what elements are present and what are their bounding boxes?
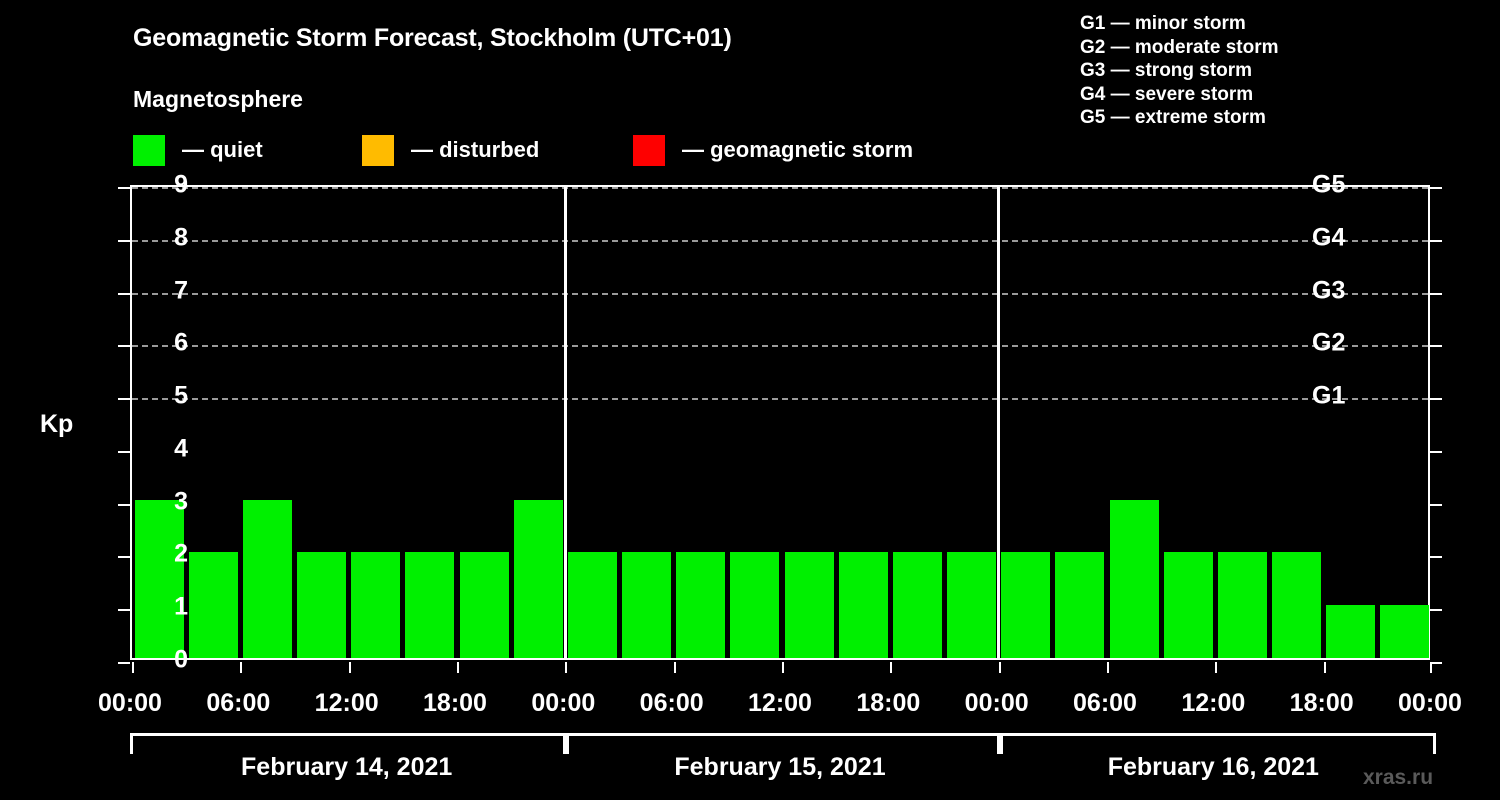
bar	[1110, 500, 1159, 658]
legend-quiet: — quiet	[133, 134, 263, 166]
x-label-1: 06:00	[206, 689, 270, 718]
y-tick-right-2	[1430, 556, 1442, 558]
g-scale-line-5: G5 — extreme storm	[1080, 106, 1279, 130]
x-label-12: 00:00	[1398, 689, 1462, 718]
gridline-kp-5	[132, 398, 1428, 400]
bar	[189, 552, 238, 658]
legend-disturbed-swatch-icon	[362, 135, 394, 166]
y-tick-right-1	[1430, 609, 1442, 611]
legend-storm-label: — geomagnetic storm	[682, 137, 913, 163]
x-tick-9	[1107, 662, 1109, 673]
y-tick-5	[118, 398, 130, 400]
x-label-11: 18:00	[1290, 689, 1354, 718]
bar	[351, 552, 400, 658]
watermark: xras.ru	[1363, 766, 1433, 790]
x-tick-4	[565, 662, 567, 673]
x-label-3: 18:00	[423, 689, 487, 718]
day-separator-2	[997, 187, 1000, 658]
y-tick-6	[118, 345, 130, 347]
bar	[135, 500, 184, 658]
legend-disturbed: — disturbed	[362, 134, 539, 166]
bar	[785, 552, 834, 658]
legend-storm-swatch-icon	[633, 135, 665, 166]
y-tick-3	[118, 504, 130, 506]
x-label-7: 18:00	[856, 689, 920, 718]
geomagnetic-forecast-chart: Geomagnetic Storm Forecast, Stockholm (U…	[0, 0, 1500, 800]
day-label-2: February 15, 2021	[674, 753, 885, 782]
bar	[1380, 605, 1429, 658]
y-tick-7	[118, 293, 130, 295]
bar	[297, 552, 346, 658]
bar	[893, 552, 942, 658]
y-tick-right-9	[1430, 187, 1442, 189]
bar	[1218, 552, 1267, 658]
g-axis-label-g1: G1	[1312, 382, 1382, 411]
y-label-5: 5	[148, 382, 188, 411]
g-axis-label-g4: G4	[1312, 223, 1382, 252]
g-scale-line-4: G4 — severe storm	[1080, 83, 1279, 107]
bar	[405, 552, 454, 658]
day-bracket-3	[997, 736, 1436, 754]
y-tick-8	[118, 240, 130, 242]
gridline-kp-6	[132, 345, 1428, 347]
x-tick-10	[1215, 662, 1217, 673]
bar	[1055, 552, 1104, 658]
y-axis-caption: Kp	[40, 410, 73, 439]
x-label-8: 00:00	[965, 689, 1029, 718]
x-label-5: 06:00	[640, 689, 704, 718]
bar	[243, 500, 292, 658]
g-axis-label-g3: G3	[1312, 276, 1382, 305]
y-tick-2	[118, 556, 130, 558]
y-tick-right-8	[1430, 240, 1442, 242]
day-separator-1	[564, 187, 567, 658]
y-tick-4	[118, 451, 130, 453]
g-scale-legend: G1 — minor stormG2 — moderate stormG3 — …	[1080, 12, 1279, 130]
x-tick-2	[349, 662, 351, 673]
y-label-7: 7	[148, 276, 188, 305]
y-tick-1	[118, 609, 130, 611]
x-tick-1	[240, 662, 242, 673]
legend-disturbed-label: — disturbed	[411, 137, 539, 163]
legend-storm: — geomagnetic storm	[633, 134, 913, 166]
y-label-0: 0	[148, 646, 188, 675]
x-label-9: 06:00	[1073, 689, 1137, 718]
bar	[514, 500, 563, 658]
g-scale-line-3: G3 — strong storm	[1080, 59, 1279, 83]
x-label-0: 00:00	[98, 689, 162, 718]
x-label-2: 12:00	[315, 689, 379, 718]
day-bracket-2	[563, 736, 1002, 754]
y-tick-right-6	[1430, 345, 1442, 347]
chart-subtitle: Magnetosphere	[133, 86, 303, 113]
x-tick-6	[782, 662, 784, 673]
bar	[1326, 605, 1375, 658]
y-label-4: 4	[148, 434, 188, 463]
bar	[839, 552, 888, 658]
x-label-6: 12:00	[748, 689, 812, 718]
x-tick-11	[1324, 662, 1326, 673]
x-tick-0	[132, 662, 134, 673]
y-label-3: 3	[148, 487, 188, 516]
legend-quiet-label: — quiet	[182, 137, 263, 163]
y-label-1: 1	[148, 593, 188, 622]
bar	[1164, 552, 1213, 658]
day-label-1: February 14, 2021	[241, 753, 452, 782]
x-tick-8	[999, 662, 1001, 673]
gridline-kp-9	[132, 187, 1428, 189]
bar	[568, 552, 617, 658]
bar	[1001, 552, 1050, 658]
x-tick-3	[457, 662, 459, 673]
bar	[730, 552, 779, 658]
gridline-kp-7	[132, 293, 1428, 295]
bar	[676, 552, 725, 658]
bar	[622, 552, 671, 658]
y-tick-0	[118, 662, 130, 664]
day-label-3: February 16, 2021	[1108, 753, 1319, 782]
y-tick-right-4	[1430, 451, 1442, 453]
x-label-4: 00:00	[531, 689, 595, 718]
y-label-8: 8	[148, 223, 188, 252]
g-axis-label-g5: G5	[1312, 171, 1382, 200]
y-label-6: 6	[148, 329, 188, 358]
bar	[1272, 552, 1321, 658]
g-scale-line-1: G1 — minor storm	[1080, 12, 1279, 36]
x-tick-12	[1430, 662, 1432, 673]
y-tick-right-5	[1430, 398, 1442, 400]
x-tick-7	[890, 662, 892, 673]
gridline-kp-8	[132, 240, 1428, 242]
page-title: Geomagnetic Storm Forecast, Stockholm (U…	[133, 24, 732, 53]
bar	[947, 552, 996, 658]
g-axis-label-g2: G2	[1312, 329, 1382, 358]
y-tick-right-7	[1430, 293, 1442, 295]
day-bracket-1	[130, 736, 569, 754]
legend-quiet-swatch-icon	[133, 135, 165, 166]
x-tick-5	[674, 662, 676, 673]
g-scale-line-2: G2 — moderate storm	[1080, 36, 1279, 60]
bar	[460, 552, 509, 658]
y-label-2: 2	[148, 540, 188, 569]
y-tick-right-3	[1430, 504, 1442, 506]
x-label-10: 12:00	[1181, 689, 1245, 718]
y-tick-9	[118, 187, 130, 189]
y-label-9: 9	[148, 171, 188, 200]
plot-area	[130, 185, 1430, 660]
